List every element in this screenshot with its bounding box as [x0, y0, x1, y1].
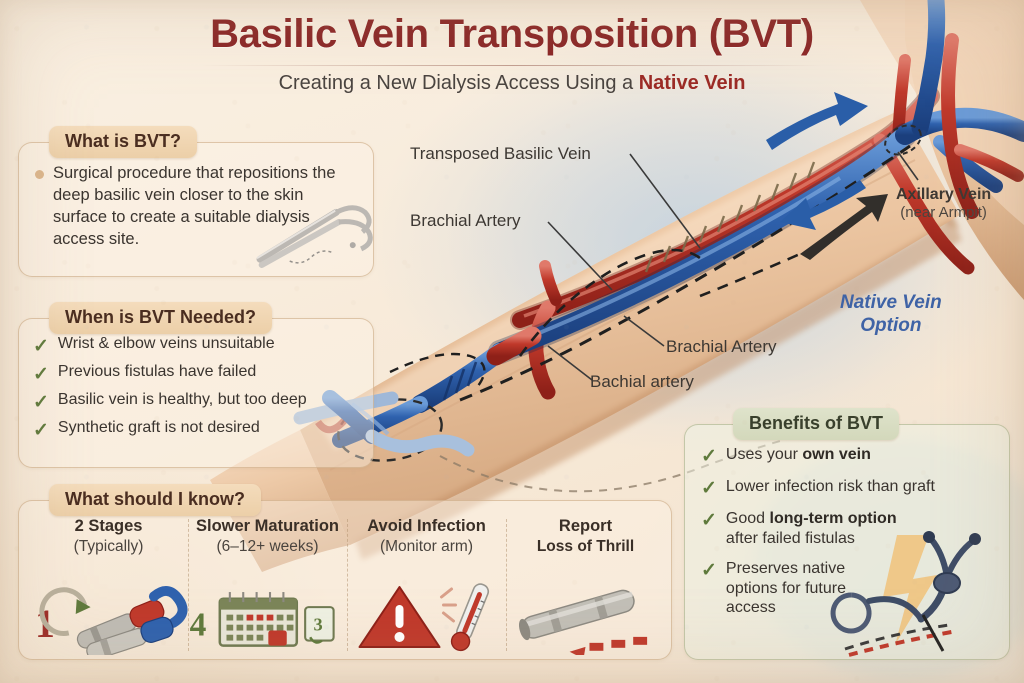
list-item-label: Synthetic graft is not desired: [58, 419, 260, 437]
subtitle-accent: Native Vein: [639, 72, 746, 94]
column-title: Report: [510, 517, 661, 536]
panel-benefits-of-bvt: Benefits of BVT ✓ Uses your own vein ✓ L…: [684, 424, 1010, 660]
check-icon: ✓: [33, 365, 49, 384]
benefit-bold: long-term option: [770, 510, 897, 527]
infographic-canvas: Basilic Vein Transposition (BVT) Creatin…: [0, 0, 1024, 683]
benefit-text: Lower infection risk than graft: [726, 477, 935, 497]
check-icon: ✓: [33, 337, 49, 356]
subtitle-text: Creating a New Dialysis Access Using a: [279, 72, 639, 94]
bullet-dot-icon: [35, 170, 44, 179]
list-item-label: Wrist & elbow veins unsuitable: [58, 335, 275, 353]
check-icon: ✓: [33, 421, 49, 440]
benefit-bold: own vein: [802, 446, 870, 463]
list-item: ✓ Synthetic graft is not desired: [33, 419, 357, 440]
benefit-pre: Uses your: [726, 446, 802, 463]
list-item: ✓ Preserves native options for future ac…: [701, 559, 995, 618]
list-item-label: Previous fistulas have failed: [58, 363, 256, 381]
what-is-bvt-text: Surgical procedure that repositions the …: [53, 163, 357, 251]
panel-heading-when-bvt-needed: When is BVT Needed?: [49, 302, 272, 334]
label-native-vein-option: Native Vein Option: [840, 292, 942, 338]
warning-thermometer-icon: [347, 581, 506, 655]
axillary-vein-subtitle: (near Armpit): [896, 204, 991, 221]
label-transposed-basilic-vein: Transposed Basilic Vein: [410, 144, 591, 164]
calendar-icon: 4: [188, 581, 347, 655]
native-vein-option-line2: Option: [840, 315, 942, 338]
vessel-flow-arrow-icon: [506, 581, 665, 655]
label-brachial-artery-top: Brachial Artery: [410, 211, 521, 231]
check-icon: ✓: [701, 479, 717, 498]
title-divider: [202, 65, 822, 66]
benefit-text: Good long-term option after failed fistu…: [726, 509, 926, 548]
label-bachial-artery-lower: Bachial artery: [590, 372, 694, 392]
list-item: ✓ Basilic vein is healthy, but too deep: [33, 391, 357, 412]
column-title: Avoid Infection: [351, 517, 502, 536]
panel-what-is-bvt: What is BVT? Surgical procedure that rep…: [18, 142, 374, 277]
column-title: Slower Maturation: [192, 517, 343, 536]
native-vein-option-line1: Native Vein: [840, 292, 942, 315]
list-item-label: Basilic vein is healthy, but too deep: [58, 391, 307, 409]
list-item: ✓ Wrist & elbow veins unsuitable: [33, 335, 357, 356]
two-stage-vessel-icon: 1: [29, 581, 188, 655]
benefit-pre: Good: [726, 510, 770, 527]
label-axillary-vein: Axillary Vein (near Armpit): [896, 186, 991, 222]
panel-when-bvt-needed: When is BVT Needed? ✓ Wrist & elbow vein…: [18, 318, 374, 468]
check-icon: ✓: [701, 561, 717, 580]
know-column-infection: Avoid Infection (Monitor arm): [347, 517, 506, 659]
header: Basilic Vein Transposition (BVT) Creatin…: [0, 12, 1024, 95]
check-icon: ✓: [701, 511, 717, 530]
page-subtitle: Creating a New Dialysis Access Using a N…: [0, 72, 1024, 95]
weeks-number: 4: [190, 607, 207, 644]
list-item: ✓ Lower infection risk than graft: [701, 477, 995, 498]
panel-what-should-i-know: What should I know? 2 Stages (Typically)…: [18, 500, 672, 660]
column-subtitle: (Monitor arm): [351, 538, 502, 557]
list-item: ✓ Good long-term option after failed fis…: [701, 509, 995, 548]
axillary-vein-title: Axillary Vein: [896, 186, 991, 204]
panel-heading-what-should-i-know: What should I know?: [49, 484, 261, 516]
benefit-pre: Preserves native options for future acce…: [726, 560, 846, 616]
page-title: Basilic Vein Transposition (BVT): [0, 12, 1024, 57]
benefit-post: after failed fistulas: [726, 530, 855, 547]
column-subtitle: (Typically): [33, 538, 184, 557]
check-icon: ✓: [33, 393, 49, 412]
column-subtitle: Loss of Thrill: [510, 538, 661, 557]
know-column-thrill: Report Loss of Thrill: [506, 517, 665, 659]
benefit-text: Preserves native options for future acce…: [726, 559, 876, 618]
panel-heading-what-is-bvt: What is BVT?: [49, 126, 197, 158]
svg-text:3: 3: [314, 615, 323, 635]
column-subtitle: (6–12+ weeks): [192, 538, 343, 557]
check-icon: ✓: [701, 447, 717, 466]
list-item: Surgical procedure that repositions the …: [35, 163, 357, 251]
label-brachial-artery-right: Brachial Artery: [666, 337, 777, 357]
know-column-stages: 2 Stages (Typically) 1: [29, 517, 188, 659]
know-column-maturation: Slower Maturation (6–12+ weeks) 4: [188, 517, 347, 659]
benefit-pre: Lower infection risk than graft: [726, 478, 935, 495]
list-item: ✓ Previous fistulas have failed: [33, 363, 357, 384]
benefit-text: Uses your own vein: [726, 445, 871, 465]
list-item: ✓ Uses your own vein: [701, 445, 995, 466]
column-title: 2 Stages: [33, 517, 184, 536]
